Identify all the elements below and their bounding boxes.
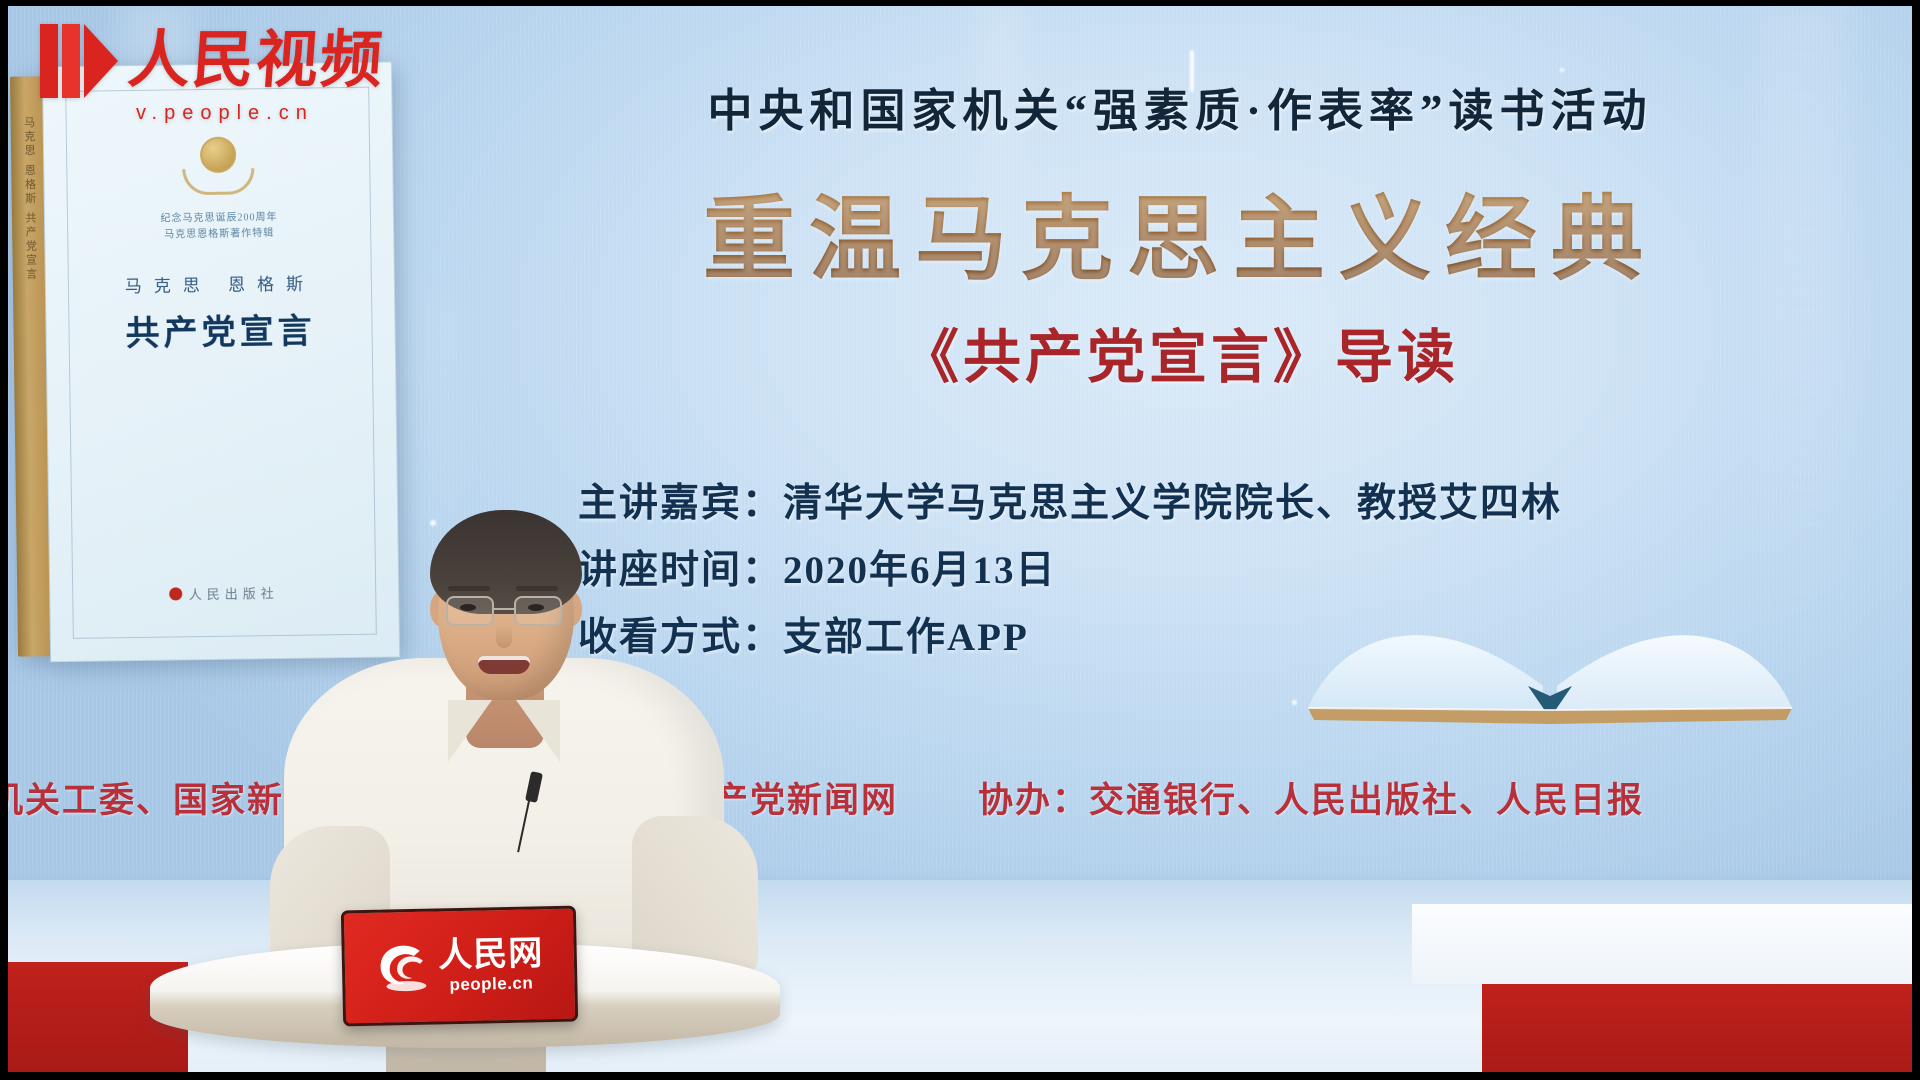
floor-wedge-right — [1412, 904, 1912, 984]
presenter-nose — [496, 624, 512, 648]
detail-value-channel: 支部工作APP — [783, 616, 1029, 659]
page-subtitle: 《共产党宣言》导读 — [470, 310, 1890, 394]
desk-placard: 人民网 people.cn — [341, 906, 578, 1027]
presenter-mouth — [478, 656, 530, 674]
letterbox-bottom — [0, 1072, 1920, 1080]
video-frame: 马克思 恩格斯 共产党宣言 纪念马克思诞辰200周年 马克思恩格斯著作特辑 马克… — [0, 0, 1920, 1080]
detail-value-speaker: 清华大学马克思主义学院院长、教授艾四林 — [783, 482, 1562, 525]
broadcaster-name: 人民视频 — [126, 30, 386, 92]
page-title: 重温马克思主义经典 — [470, 165, 1890, 298]
presenter-brow-right — [516, 586, 558, 591]
floor-accent-right — [1482, 984, 1912, 1080]
event-series-title: 中央和国家机关“强素质·作表率”读书活动 — [470, 74, 1890, 139]
book-title: 共产党宣言 — [46, 302, 395, 356]
book-spine-text: 马克思 恩格斯 共产党宣言 — [21, 116, 39, 282]
headline-block: 中央和国家机关“强素质·作表率”读书活动 重温马克思主义经典 《共产党宣言》导读 — [470, 74, 1890, 394]
glasses-lens-left — [446, 596, 494, 626]
presenter-collar-left — [448, 700, 492, 762]
glasses-bridge — [494, 608, 514, 610]
letterbox-left — [0, 0, 8, 1080]
broadcaster-logo: 人民视频 v.people.cn — [40, 24, 384, 125]
letterbox-top — [0, 0, 1920, 6]
glasses-lens-right — [514, 596, 562, 626]
detail-value-time: 2020年6月13日 — [783, 549, 1057, 592]
book-anniversary-text: 纪念马克思诞辰200周年 马克思恩格斯著作特辑 — [45, 208, 393, 244]
publisher-mark-icon — [170, 587, 183, 600]
organizer-support: 协办：交通银行、人民出版社、人民日报 — [978, 772, 1644, 823]
presenter-eye-left — [460, 604, 476, 611]
placard-brand-cn: 人民网 — [438, 937, 544, 973]
presenter-brow-left — [448, 586, 490, 591]
placard-brand-en: people.cn — [449, 974, 533, 993]
presenter-eye-right — [528, 604, 544, 611]
globe-wreath-icon — [182, 136, 255, 199]
book-publisher-name: 人民出版社 — [189, 583, 279, 603]
broadcaster-domain: v.people.cn — [136, 102, 314, 125]
letterbox-right — [1912, 0, 1920, 1080]
people-swirl-icon — [375, 942, 430, 993]
placard-text: 人民网 people.cn — [438, 937, 544, 993]
play-triangle-icon — [40, 24, 118, 98]
presenter-figure — [270, 428, 740, 988]
presenter-collar-right — [516, 700, 560, 762]
book-authors: 马克思 恩格斯 — [46, 268, 394, 298]
